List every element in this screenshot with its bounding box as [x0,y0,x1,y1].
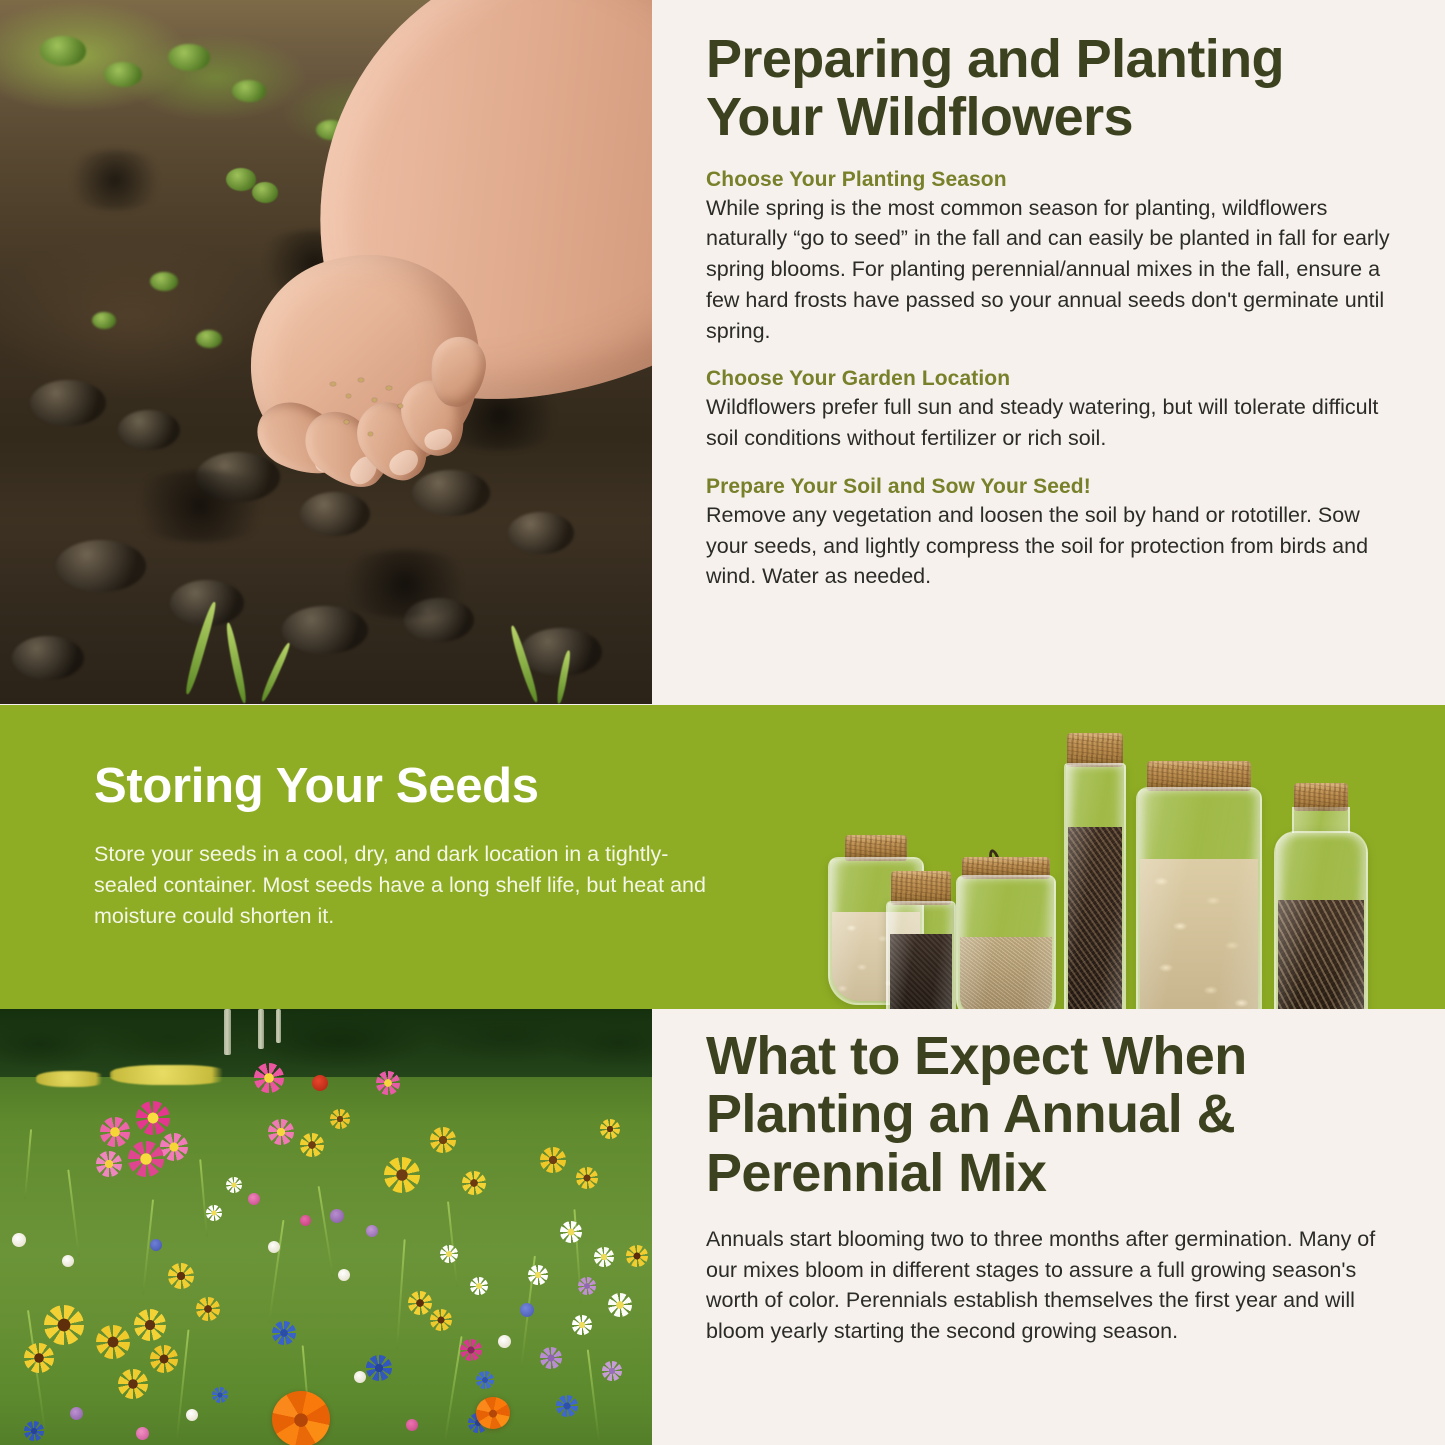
storing-seeds-body: Store your seeds in a cool, dry, and dar… [94,839,712,933]
cosmos-flower-pink [268,1119,294,1145]
seed-jars-photo [822,723,1372,1009]
treeline [0,1009,652,1077]
cosmos-flower-magenta [136,1101,170,1135]
daisy-flower-white [560,1221,582,1243]
coreopsis-flower [330,1109,350,1129]
daisy-flower-white [594,1247,614,1267]
tree-trunk [258,1009,264,1049]
pink-flower [248,1193,260,1205]
daisy-flower-white [206,1205,222,1221]
sprout-icon [196,330,222,348]
soil-shadow [60,150,170,210]
cornflower-blue [150,1239,162,1251]
seed-fill-sand-seeds [960,937,1052,1009]
sprout-icon [104,62,142,87]
tree-trunk [276,1009,281,1043]
sprout-icon [226,168,256,191]
seed [398,404,403,408]
pink-flower [300,1215,311,1226]
cosmos-flower-pink [96,1151,122,1177]
coreopsis-flower [24,1343,54,1373]
soil-clod [56,540,146,592]
daisy-flower-white [528,1265,548,1285]
seed [386,386,392,390]
pink-flower [136,1427,149,1440]
coreopsis-flower [44,1305,84,1345]
coreopsis-flower [430,1127,456,1153]
coreopsis-flower [118,1369,148,1399]
section-1-text-column: Preparing and Planting Your Wildflowers … [652,0,1445,704]
subheading-garden-location: Choose Your Garden Location [706,367,1391,391]
scabiosa-purple [70,1407,83,1420]
cornflower-blue [556,1395,578,1417]
soil-clod [282,606,368,654]
glass-jar [956,875,1056,1009]
coreopsis-flower [96,1325,130,1359]
sprout-icon [168,44,210,71]
daisy-flower-white [608,1293,632,1317]
glass-jar [1136,787,1262,1009]
scabiosa-purple [330,1209,344,1223]
body-prepare-soil: Remove any vegetation and loosen the soi… [706,500,1391,592]
coreopsis-flower [600,1119,620,1139]
soil-clod [30,380,106,426]
glass-jar [1064,763,1126,1009]
cornflower-blue [272,1321,296,1345]
cosmos-flower-pink [376,1071,400,1095]
seed-jar-pumpkin-seeds [1136,761,1262,1009]
section-2-text-column: Storing Your Seeds Store your seeds in a… [94,761,734,932]
cornflower-blue [476,1371,494,1389]
seed-jar-black-seeds [886,871,956,1009]
cornflower-blue [24,1421,44,1441]
cornflower-blue [212,1387,228,1403]
coreopsis-flower [430,1309,452,1331]
storing-seeds-title: Storing Your Seeds [94,761,734,813]
soil-shadow [330,550,480,618]
seed-fill-pumpkin-seeds [1140,859,1258,1009]
daisy-flower-white [470,1277,488,1295]
seed [346,394,351,398]
sprout-icon [92,312,116,329]
seed-fill-dark-seeds [1068,827,1122,1009]
soil-clod [118,410,180,450]
body-garden-location: Wildflowers prefer full sun and steady w… [706,392,1391,453]
coreopsis-flower [196,1297,220,1321]
white-flower [338,1269,350,1281]
soil-clod [12,636,84,680]
coreopsis-flower [168,1263,194,1289]
soil-clod [412,470,490,516]
wildflower-planting-infographic: Preparing and Planting Your Wildflowers … [0,0,1445,1445]
bottle-neck [1292,807,1350,833]
storing-seeds-band: Storing Your Seeds Store your seeds in a… [0,705,1445,1009]
seed [330,382,336,386]
cosmos-flower-magenta [460,1339,482,1361]
scabiosa-purple [578,1277,596,1295]
seed-fill-black-seeds [890,934,952,1009]
wildflower-meadow-photo [0,1009,652,1445]
coreopsis-flower [134,1309,166,1341]
soil-clod [508,512,574,554]
coreopsis-flower [576,1167,598,1189]
coreopsis-flower [540,1147,566,1173]
sprout-icon [40,36,86,66]
soil-scene [0,0,652,704]
seed [368,432,373,436]
soil-shadow [120,470,280,542]
soil-sowing-photo [0,0,652,704]
meadow-scene [0,1009,652,1445]
subheading-planting-season: Choose Your Planting Season [706,168,1391,192]
body-planting-season: While spring is the most common season f… [706,193,1391,347]
scabiosa-purple [602,1361,622,1381]
white-flower [12,1233,26,1247]
daisy-flower-white [440,1245,458,1263]
sprout-icon [252,182,278,203]
poppy-red-large [476,1397,510,1429]
scabiosa-purple [366,1225,378,1237]
white-flower [268,1241,280,1253]
poppy-red [312,1075,328,1091]
section-3-title: What to Expect When Planting an Annual &… [706,1027,1391,1202]
seed [358,378,364,382]
daisy-flower-white [572,1315,592,1335]
glass-jar [886,901,956,1009]
coreopsis-flower [408,1291,432,1315]
subheading-prepare-soil: Prepare Your Soil and Sow Your Seed! [706,475,1391,499]
coreopsis-flower [300,1133,324,1157]
seed-jar-dark-seeds [1064,733,1126,1009]
seed-jar-mixed-seeds [1274,783,1368,1009]
cornflower-blue [520,1303,534,1317]
cosmos-flower-magenta [128,1141,164,1177]
cosmos-flower-pink [100,1117,130,1147]
seed-jar-sand-seeds [956,851,1056,1009]
white-flower [354,1371,366,1383]
coreopsis-flower [462,1171,486,1195]
sprout-icon [232,80,266,102]
coreopsis-flower [150,1345,178,1373]
cosmos-flower-pink [160,1133,188,1161]
fingernail [422,426,455,454]
cosmos-flower-pink [254,1063,284,1093]
coreopsis-flower [626,1245,648,1267]
daisy-flower-white [226,1177,242,1193]
seed-fill-mixed-seeds [1278,900,1364,1009]
distant-yellow-flowers [36,1071,106,1087]
seed [344,420,349,424]
scabiosa-purple [540,1347,562,1369]
page-title: Preparing and Planting Your Wildflowers [706,30,1391,147]
pink-flower [406,1419,418,1431]
cork-lid [1067,733,1123,767]
cork-lid [891,871,951,905]
distant-yellow-flowers [110,1065,230,1085]
section-3-body: Annuals start blooming two to three mont… [706,1224,1391,1347]
glass-jar [1274,831,1368,1009]
section-3-text-column: What to Expect When Planting an Annual &… [652,1009,1445,1445]
california-poppy-orange [272,1391,330,1445]
sprout-icon [150,272,178,291]
white-flower [186,1409,198,1421]
tree-trunk [224,1009,231,1055]
white-flower [62,1255,74,1267]
soil-clod [300,492,370,536]
seed [372,398,377,402]
white-flower [498,1335,511,1348]
coreopsis-flower [384,1157,420,1193]
cornflower-blue [366,1355,392,1381]
